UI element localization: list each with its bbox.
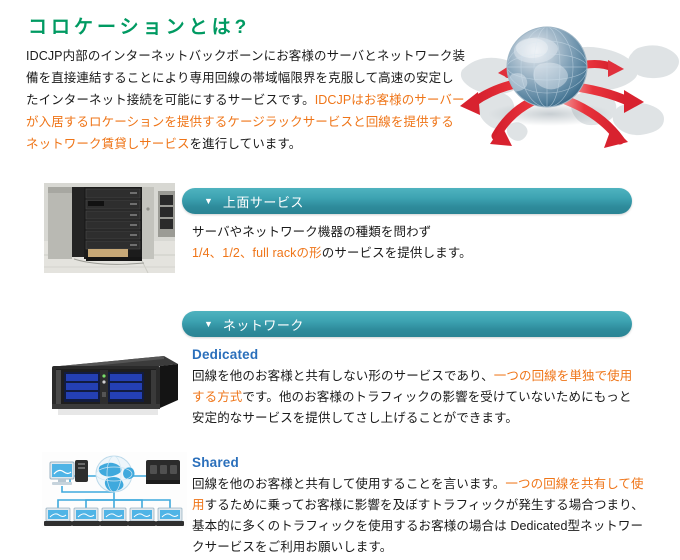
- section-header-top-service[interactable]: ▼ 上面サービス: [182, 188, 632, 214]
- globe-sphere: [507, 27, 587, 107]
- shared-network-diagram: [42, 452, 187, 528]
- chevron-down-icon: ▼: [204, 320, 213, 329]
- dedicated-body-pre: 回線を他のお客様と共有しない形のサービスであり、: [192, 369, 494, 383]
- section-header-label: 上面サービス: [223, 192, 304, 211]
- top-service-body: サーバやネットワーク機器の種類を問わず 1/4、1/2、full rackの形の…: [192, 222, 622, 264]
- top-service-line-1: サーバやネットワーク機器の種類を問わず: [192, 222, 622, 243]
- diagram-laptops: [44, 508, 184, 526]
- shared-body-post: するために乗ってお客様に影響を及ぼすトラフィックが発生する場合つまり、基本的に多…: [192, 498, 644, 554]
- intro-text-tail: を進行しています。: [190, 137, 302, 151]
- page-title: コロケーションとは?: [28, 12, 250, 39]
- section-header-label: ネットワーク: [223, 315, 304, 334]
- datacenter-rack-photo: [44, 183, 175, 273]
- shared-title: Shared: [192, 455, 239, 470]
- dedicated-title: Dedicated: [192, 347, 258, 362]
- rackmount-server-photo: [44, 352, 180, 420]
- shared-body: 回線を他のお客様と共有して使用することを言います。一つの回線を共有して使用するた…: [192, 474, 644, 558]
- hero-section: コロケーションとは? IDCJP内部のインターネットバックボーンにお客様のサーバ…: [0, 0, 680, 180]
- globe-world-map-graphic: [452, 2, 680, 172]
- dedicated-body-post: です。他のお客様のトラフィックの影響を受けていないためにもっと安定的なサービスを…: [192, 390, 632, 425]
- shared-body-pre: 回線を他のお客様と共有して使用することを言います。: [192, 477, 505, 491]
- dedicated-body: 回線を他のお客様と共有しない形のサービスであり、一つの回線を単独で使用する方式で…: [192, 366, 640, 429]
- diagram-server-icon: [146, 460, 180, 484]
- top-service-highlight: 1/4、1/2、full rackの形: [192, 246, 322, 260]
- chevron-down-icon: ▼: [204, 197, 213, 206]
- top-service-line-2: 1/4、1/2、full rackの形のサービスを提供します。: [192, 243, 622, 264]
- top-service-tail: のサービスを提供します。: [322, 246, 472, 260]
- intro-paragraph: IDCJP内部のインターネットバックボーンにお客様のサーバとネットワーク装備を直…: [26, 45, 466, 155]
- section-header-network[interactable]: ▼ ネットワーク: [182, 311, 632, 337]
